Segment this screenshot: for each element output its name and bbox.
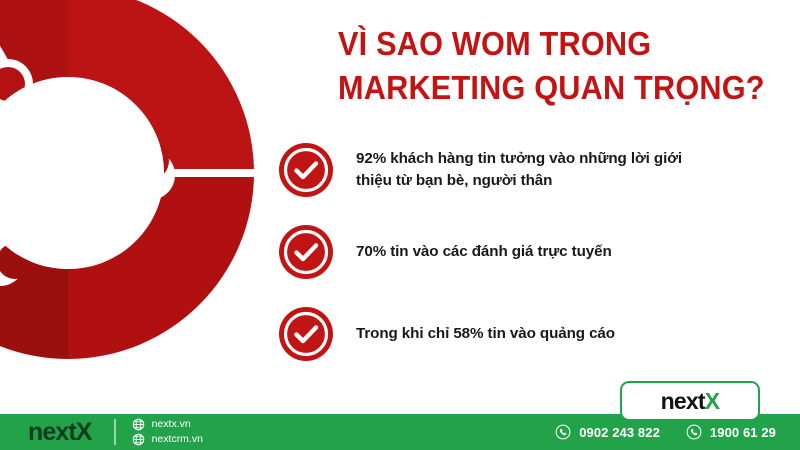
page-title: VÌ SAO WOM TRONG MARKETING QUAN TRỌNG?: [338, 22, 758, 110]
website-label: nextcrm.vn: [152, 433, 203, 446]
phone-icon: [686, 424, 702, 440]
globe-icon: [132, 418, 145, 431]
title-line-2: MARKETING QUAN TRỌNG?: [338, 66, 729, 110]
footer-logo: nextX: [28, 418, 92, 447]
statistics-list: 92% khách hàng tin tưởng vào những lời g…: [278, 138, 708, 366]
logo-text-primary: next: [661, 388, 705, 414]
website-link[interactable]: nextx.vn: [132, 418, 203, 431]
phone-link[interactable]: 1900 61 29: [686, 424, 776, 440]
phone-link[interactable]: 0902 243 822: [555, 424, 660, 440]
puzzle-donut-ring-graphic: [0, 0, 254, 388]
list-item-label: 92% khách hàng tin tưởng vào những lời g…: [356, 148, 708, 192]
nextx-logo-card: nextX: [620, 381, 760, 421]
list-item: Trong khi chỉ 58% tin vào quảng cáo: [278, 302, 708, 366]
infographic-canvas: VÌ SAO WOM TRONG MARKETING QUAN TRỌNG? 9…: [0, 0, 800, 450]
website-link[interactable]: nextcrm.vn: [132, 433, 203, 446]
check-circle-icon: [278, 224, 334, 280]
footer-phones: 0902 243 822 1900 61 29: [555, 424, 776, 440]
list-item: 92% khách hàng tin tưởng vào những lời g…: [278, 138, 708, 202]
footer-websites: nextx.vn nextcrm.vn: [132, 418, 203, 446]
list-item-label: 70% tin vào các đánh giá trực tuyến: [356, 241, 612, 263]
check-circle-icon: [278, 306, 334, 362]
phone-label: 0902 243 822: [579, 425, 660, 440]
check-circle-icon: [278, 142, 334, 198]
website-label: nextx.vn: [152, 418, 191, 431]
globe-icon: [132, 433, 145, 446]
footer-divider: [114, 419, 116, 445]
phone-icon: [555, 424, 571, 440]
logo-text-accent: X: [705, 388, 720, 414]
title-line-1: VÌ SAO WOM TRONG: [338, 22, 729, 66]
list-item-label: Trong khi chỉ 58% tin vào quảng cáo: [356, 323, 615, 345]
list-item: 70% tin vào các đánh giá trực tuyến: [278, 220, 708, 284]
phone-label: 1900 61 29: [710, 425, 776, 440]
